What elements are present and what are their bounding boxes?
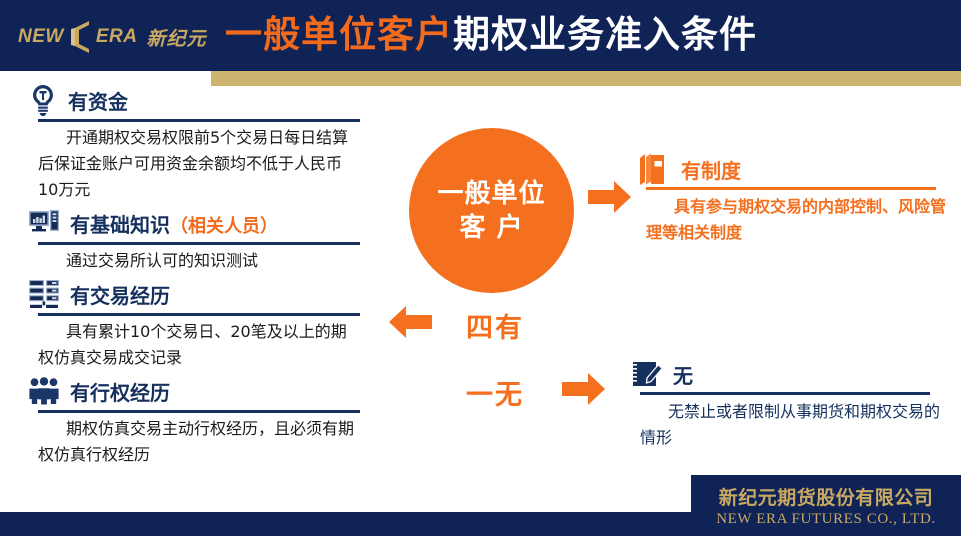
monitor-chart-icon <box>28 209 60 237</box>
right-block-body: 无禁止或者限制从事期货和期权交易的情形 <box>640 399 940 451</box>
center-circle-customer: 一般单位 客 户 <box>409 128 574 293</box>
criteria-body: 开通期权交易权限前5个交易日每日结算后保证金账户可用资金余额均不低于人民币10万… <box>38 125 360 203</box>
logo-text-era: ERA <box>96 26 138 48</box>
criteria-title-sub: （相关人员） <box>170 216 278 237</box>
criteria-header: 有资金 <box>28 82 373 118</box>
criteria-title: 有基础知识（相关人员） <box>70 209 278 238</box>
books-stack-icon <box>638 152 672 186</box>
footer-company-block: 新纪元期货股份有限公司 NEW ERA FUTURES CO., LTD. <box>691 475 961 536</box>
left-criteria-column: 有资金 开通期权交易权限前5个交易日每日结算后保证金账户可用资金余额均不低于人民… <box>28 82 373 470</box>
criteria-header: 有行权经历 <box>28 373 373 409</box>
doorway-mark-icon <box>69 20 91 54</box>
arrow-right-to-system-icon <box>588 180 632 219</box>
right-block-title: 无 <box>673 360 693 389</box>
label-four-requirements: 四有 <box>466 306 524 345</box>
right-block-system: 有制度 具有参与期权交易的内部控制、风险管理等相关制度 <box>638 152 948 246</box>
footer-company-en: NEW ERA FUTURES CO., LTD. <box>716 511 936 528</box>
criteria-block-funds: 有资金 开通期权交易权限前5个交易日每日结算后保证金账户可用资金余额均不低于人民… <box>28 82 373 203</box>
right-block-title: 有制度 <box>681 155 741 184</box>
circle-line-1: 一般单位 <box>437 177 545 211</box>
right-block-divider <box>640 392 930 395</box>
arrow-left-to-criteria-icon <box>388 305 432 344</box>
right-block-header: 有制度 <box>638 152 948 186</box>
criteria-block-trading-history: 有交易经历 具有累计10个交易日、20笔及以上的期权仿真交易成交记录 <box>28 276 373 371</box>
criteria-divider <box>38 119 360 122</box>
criteria-body: 具有累计10个交易日、20笔及以上的期权仿真交易成交记录 <box>38 319 360 371</box>
criteria-block-knowledge: 有基础知识（相关人员） 通过交易所认可的知识测试 <box>28 205 373 274</box>
right-block-divider <box>646 187 936 190</box>
criteria-title: 有资金 <box>68 86 128 115</box>
page-title: 一般单位客户期权业务准入条件 <box>225 8 757 62</box>
logo-text-cn: 新纪元 <box>146 24 206 51</box>
criteria-divider <box>38 410 360 413</box>
people-group-icon <box>28 377 60 405</box>
criteria-block-exercise-history: 有行权经历 期权仿真交易主动行权经历，且必须有期权仿真行权经历 <box>28 373 373 468</box>
label-one-prohibition: 一无 <box>466 373 524 412</box>
criteria-divider <box>38 242 360 245</box>
criteria-title: 有交易经历 <box>70 280 170 309</box>
page-title-highlight: 一般单位客户 <box>225 13 453 56</box>
circle-line-2: 客 户 <box>459 211 523 245</box>
logo-text-new: NEW <box>18 26 64 48</box>
notepad-pencil-icon <box>632 358 664 390</box>
right-block-prohibition: 无 无禁止或者限制从事期货和期权交易的情形 <box>632 357 950 451</box>
brand-logo: NEW ERA 新纪元 <box>18 20 206 54</box>
page-title-rest: 期权业务准入条件 <box>453 13 757 56</box>
criteria-body: 通过交易所认可的知识测试 <box>38 248 360 274</box>
server-rack-icon <box>28 279 60 309</box>
criteria-header: 有基础知识（相关人员） <box>28 205 373 241</box>
criteria-body: 期权仿真交易主动行权经历，且必须有期权仿真行权经历 <box>38 416 360 468</box>
slide-canvas: NEW ERA 新纪元 一般单位客户期权业务准入条件 <box>0 0 961 536</box>
lightbulb-icon <box>28 83 58 117</box>
criteria-divider <box>38 313 360 316</box>
right-block-header: 无 <box>632 357 950 391</box>
footer-company-cn: 新纪元期货股份有限公司 <box>719 483 934 510</box>
arrow-right-to-prohibition-icon <box>562 372 606 411</box>
criteria-header: 有交易经历 <box>28 276 373 312</box>
criteria-title: 有行权经历 <box>70 377 170 406</box>
right-block-body: 具有参与期权交易的内部控制、风险管理等相关制度 <box>646 194 946 246</box>
